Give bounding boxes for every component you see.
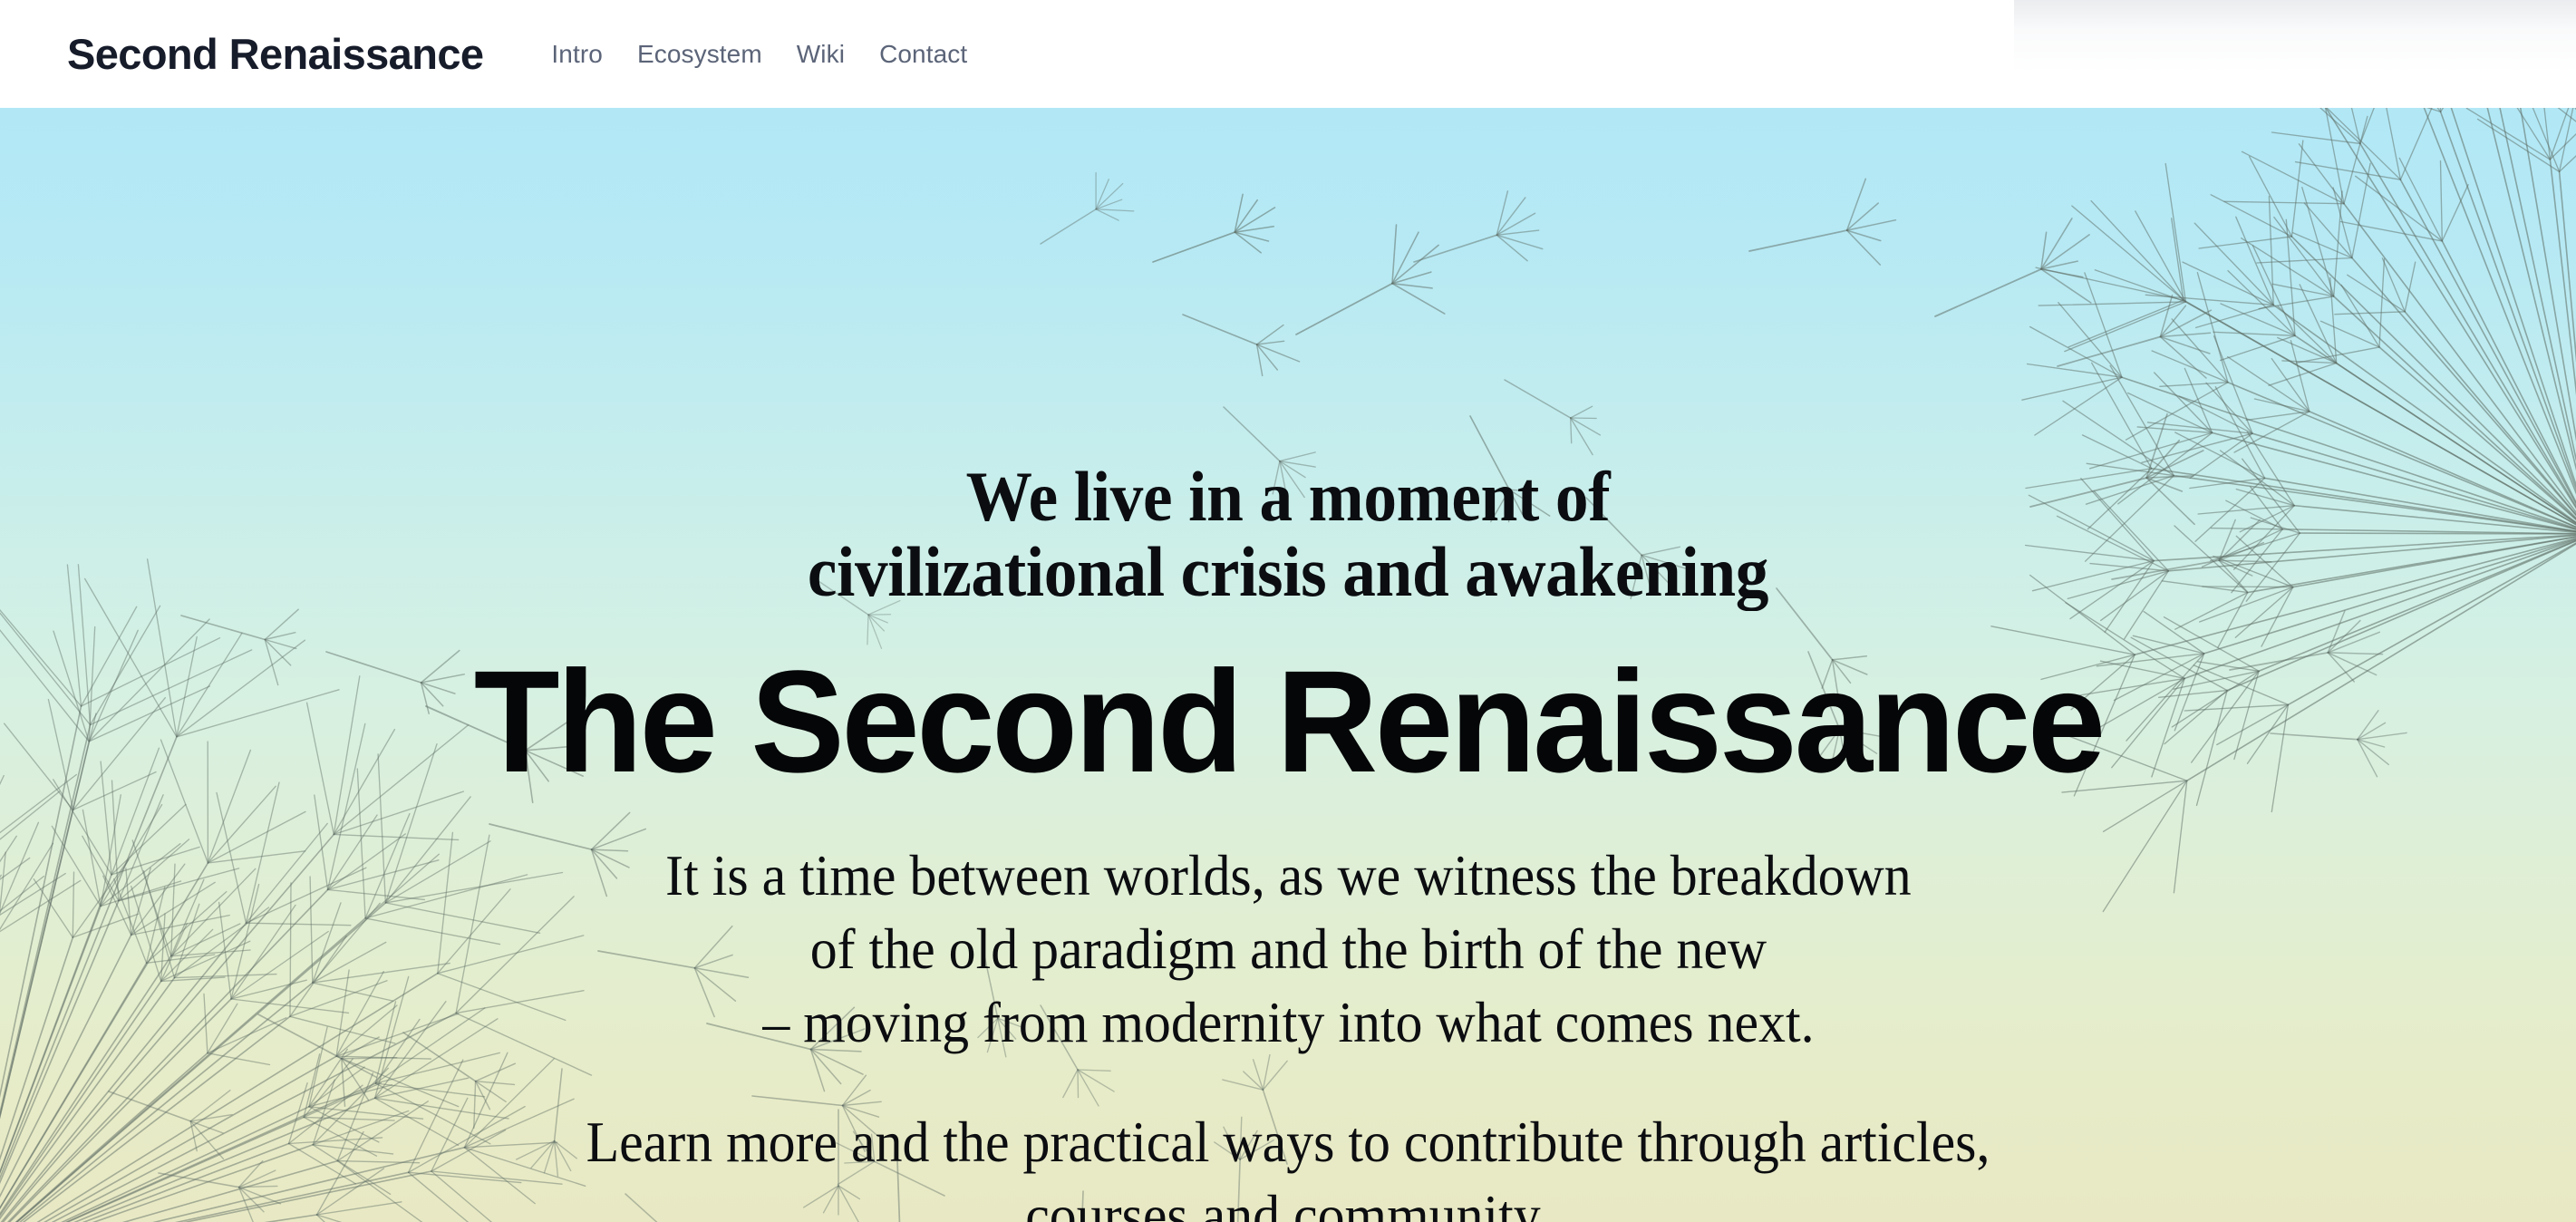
nav-link-intro[interactable]: Intro: [551, 42, 603, 67]
hero-paragraph-line-2: of the old paradigm and the birth of the…: [665, 913, 1912, 986]
main-navigation: Intro Ecosystem Wiki Contact: [551, 42, 967, 67]
hero-eyebrow: We live in a moment of civilizational cr…: [808, 460, 1768, 609]
hero-eyebrow-line-2: civilizational crisis and awakening: [808, 535, 1768, 610]
hero-content: We live in a moment of civilizational cr…: [0, 108, 2576, 1222]
hero-paragraph: It is a time between worlds, as we witne…: [665, 839, 1912, 1059]
nav-link-contact[interactable]: Contact: [879, 42, 967, 67]
hero-section: We live in a moment of civilizational cr…: [0, 108, 2576, 1222]
nav-link-wiki[interactable]: Wiki: [797, 42, 845, 67]
hero-title: The Second Renaissance: [473, 649, 2102, 794]
nav-link-ecosystem[interactable]: Ecosystem: [637, 42, 762, 67]
brand-logo[interactable]: Second Renaissance: [67, 33, 483, 75]
site-header: Second Renaissance Intro Ecosystem Wiki …: [0, 0, 2576, 108]
hero-paragraph-line-1: It is a time between worlds, as we witne…: [665, 839, 1912, 913]
hero-eyebrow-line-1: We live in a moment of: [808, 460, 1768, 535]
hero-paragraph-secondary: Learn more and the practical ways to con…: [513, 1106, 2063, 1222]
hero-paragraph-line-3: – moving from modernity into what comes …: [665, 986, 1912, 1060]
header-corner-shadow: [2014, 0, 2576, 108]
